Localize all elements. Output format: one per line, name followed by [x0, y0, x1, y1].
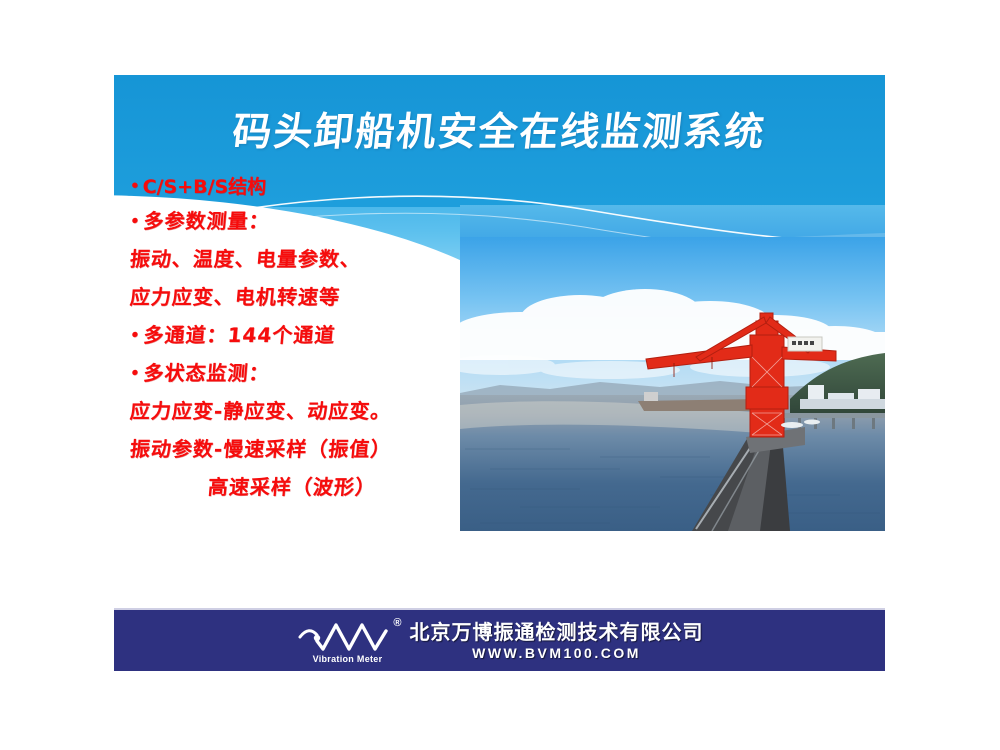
logo-caption: Vibration Meter — [296, 654, 400, 664]
footer-content: ® Vibration Meter 北京万博振通检测技术有限公司 WWW.BVM… — [296, 619, 704, 663]
vibration-meter-logo: ® Vibration Meter — [296, 619, 400, 663]
footer-bar: ® Vibration Meter 北京万博振通检测技术有限公司 WWW.BVM… — [114, 608, 885, 671]
waveform-logo-icon — [296, 619, 400, 653]
registered-mark-icon: ® — [393, 617, 401, 629]
slide-canvas: 码头卸船机安全在线监测系统 C/S+B/S结构 多参数测量： 振动、温度、电量参… — [114, 75, 885, 671]
list-item: 应力应变、电机转速等 — [128, 278, 491, 316]
slide-root: 码头卸船机安全在线监测系统 C/S+B/S结构 多参数测量： 振动、温度、电量参… — [0, 0, 1000, 750]
list-item: 多参数测量： — [128, 202, 491, 240]
company-name: 北京万博振通检测技术有限公司 — [410, 622, 704, 642]
list-item: 应力应变-静应变、动应变。 — [128, 392, 491, 430]
list-item: C/S+B/S结构 — [130, 171, 490, 202]
ship-unloader-photo — [460, 237, 885, 531]
footer-text-block: 北京万博振通检测技术有限公司 WWW.BVM100.COM — [410, 622, 704, 660]
website-url[interactable]: WWW.BVM100.COM — [472, 646, 641, 660]
list-item: 振动参数-慢速采样（振值） — [128, 430, 491, 468]
page-title: 码头卸船机安全在线监测系统 — [114, 101, 885, 157]
list-item: 多状态监测： — [128, 354, 491, 392]
bullet-list: C/S+B/S结构 多参数测量： 振动、温度、电量参数、 应力应变、电机转速等 … — [130, 171, 490, 506]
list-item: 高速采样（波形） — [128, 468, 491, 506]
list-item: 振动、温度、电量参数、 — [128, 240, 491, 278]
list-item: 多通道：144个通道 — [128, 316, 491, 354]
